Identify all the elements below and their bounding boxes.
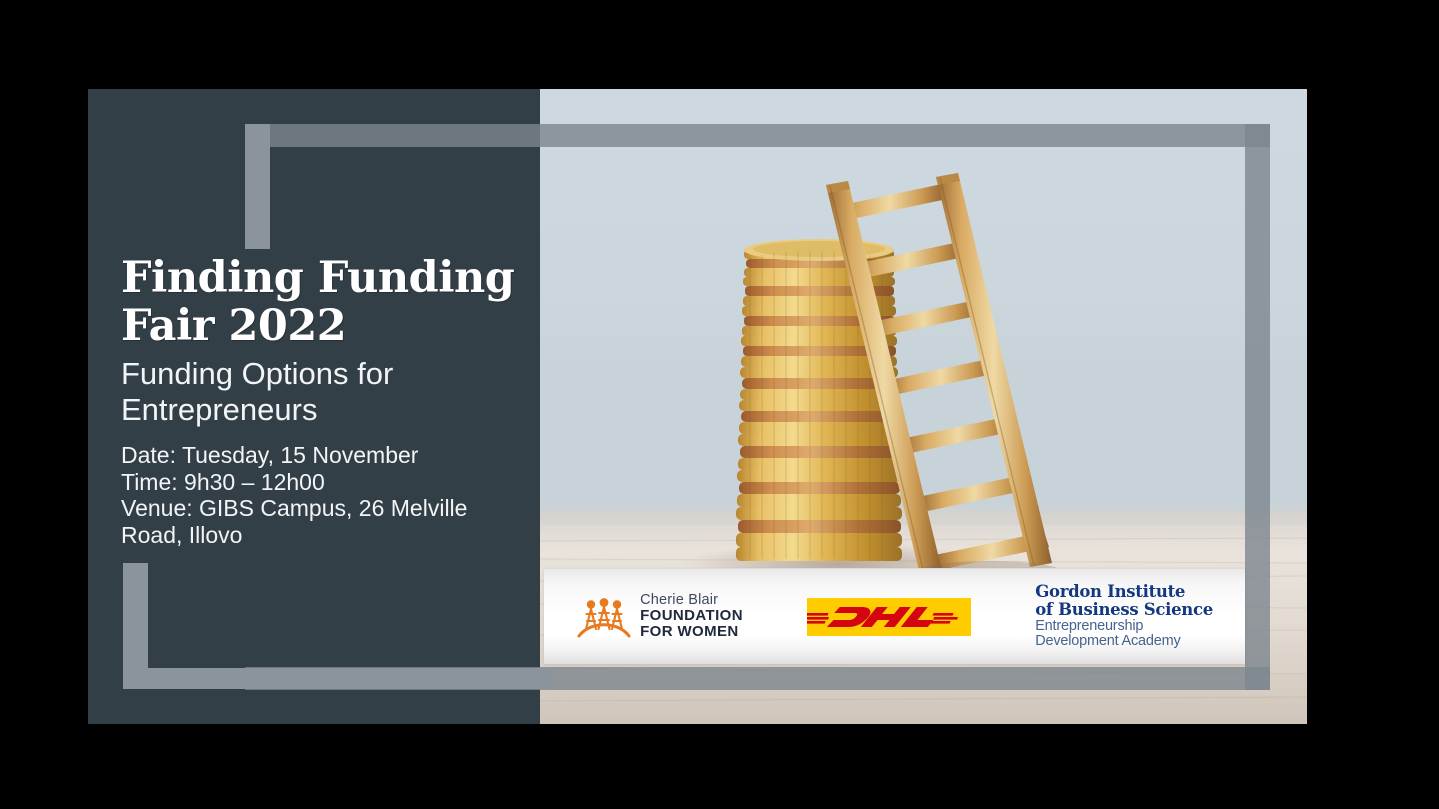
- cbf-line-2: FOUNDATION: [640, 608, 743, 624]
- cbf-line-3: FOR WOMEN: [640, 624, 743, 640]
- event-details: Date: Tuesday, 15 November Time: 9h30 – …: [121, 442, 521, 548]
- gibs-line-4: Development Academy: [1035, 634, 1213, 650]
- slide-title: Finding Funding Fair 2022: [121, 254, 521, 350]
- coin-stack: [736, 239, 902, 561]
- gibs-line-3: Entrepreneurship: [1035, 619, 1213, 635]
- frame-right-bar: [1245, 124, 1270, 690]
- cbf-line-1: Cherie Blair: [640, 593, 743, 608]
- corner-bracket-top-left: [245, 124, 270, 249]
- cherie-blair-foundation-logo: Cherie Blair FOUNDATION FOR WOMEN: [576, 593, 743, 640]
- corner-bracket-bottom-left-horizontal: [123, 668, 553, 689]
- sponsor-logo-bar: Cherie Blair FOUNDATION FOR WOMEN: [544, 568, 1245, 664]
- dhl-logo: [807, 598, 971, 636]
- gibs-line-2: of Business Science: [1035, 601, 1213, 619]
- frame-top-bar: [245, 124, 1270, 147]
- slide-subtitle: Funding Options for Entrepreneurs: [121, 356, 521, 428]
- slide-stage: Finding Funding Fair 2022 Funding Option…: [0, 0, 1439, 809]
- gibs-logo: Gordon Institute of Business Science Ent…: [1035, 583, 1213, 650]
- three-women-arc-icon: [576, 594, 632, 640]
- slide-text-block: Finding Funding Fair 2022 Funding Option…: [121, 254, 521, 548]
- gibs-line-1: Gordon Institute: [1035, 583, 1213, 601]
- dhl-wordmark-icon: [807, 598, 971, 636]
- cherie-blair-wordmark: Cherie Blair FOUNDATION FOR WOMEN: [640, 593, 743, 640]
- presentation-slide: Finding Funding Fair 2022 Funding Option…: [88, 89, 1307, 724]
